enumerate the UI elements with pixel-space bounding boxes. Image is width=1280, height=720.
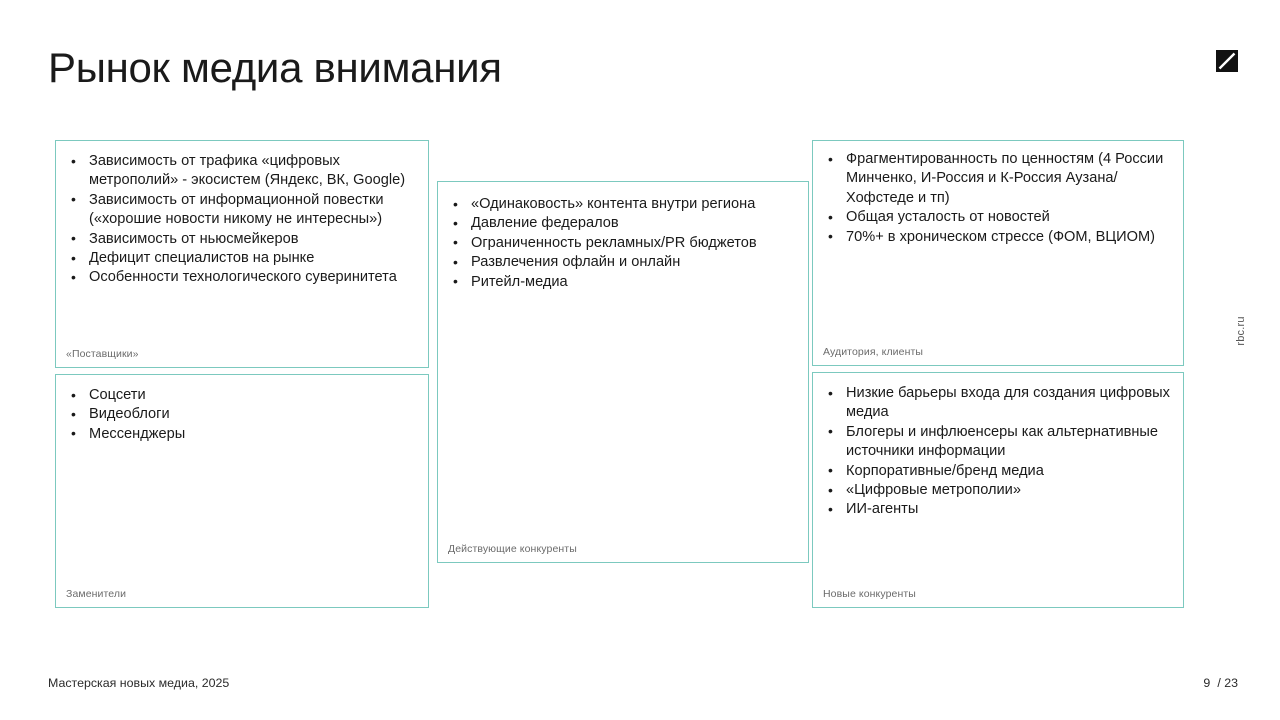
list-item: «Цифровые метрополии» — [821, 481, 1175, 500]
list-item: Фрагментированность по ценностям (4 Росс… — [821, 150, 1175, 208]
box-audience-label: Аудитория, клиенты — [823, 346, 923, 358]
list-item: Ритейл-медиа — [446, 273, 800, 292]
box-suppliers-label: «Поставщики» — [66, 348, 139, 360]
list-item: Соцсети — [64, 386, 420, 405]
list-item: Мессенджеры — [64, 425, 420, 444]
list-item: Ограниченность рекламных/PR бюджетов — [446, 234, 800, 253]
page-title: Рынок медиа внимания — [48, 44, 502, 92]
list-item: Зависимость от трафика «цифровых метропо… — [64, 152, 420, 191]
list-item: 70%+ в хроническом стрессе (ФОМ, ВЦИОМ) — [821, 228, 1175, 247]
list-item: Давление федералов — [446, 214, 800, 233]
box-audience-content: Фрагментированность по ценностям (4 Росс… — [813, 141, 1183, 247]
list-item: Зависимость от ньюсмейкеров — [64, 230, 420, 249]
box-substitutes-content: Соцсети Видеоблоги Мессенджеры — [56, 375, 428, 444]
box-new-entrants-content: Низкие барьеры входа для создания цифров… — [813, 373, 1183, 520]
box-current-competitors-list: «Одинаковость» контента внутри региона Д… — [446, 195, 800, 292]
box-audience: Фрагментированность по ценностям (4 Росс… — [812, 140, 1184, 366]
list-item: Общая усталость от новостей — [821, 208, 1175, 227]
slide: Рынок медиа внимания rbc.ru Зависимость … — [0, 0, 1280, 720]
box-suppliers-content: Зависимость от трафика «цифровых метропо… — [56, 141, 428, 288]
list-item: Видеоблоги — [64, 405, 420, 424]
list-item: Развлечения офлайн и онлайн — [446, 253, 800, 272]
current-page-number: 9 — [1203, 676, 1210, 690]
total-pages: / 23 — [1217, 676, 1238, 690]
list-item: Корпоративные/бренд медиа — [821, 462, 1175, 481]
footer-source: Мастерская новых медиа, 2025 — [48, 676, 229, 690]
box-audience-list: Фрагментированность по ценностям (4 Росс… — [821, 150, 1175, 247]
box-substitutes-label: Заменители — [66, 588, 126, 600]
box-new-entrants: Низкие барьеры входа для создания цифров… — [812, 372, 1184, 608]
box-new-entrants-label: Новые конкуренты — [823, 588, 916, 600]
list-item: Зависимость от информационной повестки (… — [64, 191, 420, 230]
box-suppliers: Зависимость от трафика «цифровых метропо… — [55, 140, 429, 368]
list-item: ИИ-агенты — [821, 500, 1175, 519]
list-item: «Одинаковость» контента внутри региона — [446, 195, 800, 214]
list-item: Блогеры и инфлюенсеры как альтернативные… — [821, 423, 1175, 462]
list-item: Низкие барьеры входа для создания цифров… — [821, 384, 1175, 423]
box-suppliers-list: Зависимость от трафика «цифровых метропо… — [64, 152, 420, 288]
site-url-vertical: rbc.ru — [1235, 296, 1247, 366]
box-current-competitors: «Одинаковость» контента внутри региона Д… — [437, 181, 809, 563]
box-new-entrants-list: Низкие барьеры входа для создания цифров… — [821, 384, 1175, 520]
footer-pagination: 9/ 23 — [1203, 676, 1238, 690]
list-item: Особенности технологического суверинитет… — [64, 268, 420, 287]
list-item: Дефицит специалистов на рынке — [64, 249, 420, 268]
box-substitutes: Соцсети Видеоблоги Мессенджеры Заменител… — [55, 374, 429, 608]
rbc-logo-icon — [1216, 50, 1238, 72]
box-current-competitors-content: «Одинаковость» контента внутри региона Д… — [438, 182, 808, 292]
box-substitutes-list: Соцсети Видеоблоги Мессенджеры — [64, 386, 420, 444]
box-current-competitors-label: Действующие конкуренты — [448, 543, 577, 555]
